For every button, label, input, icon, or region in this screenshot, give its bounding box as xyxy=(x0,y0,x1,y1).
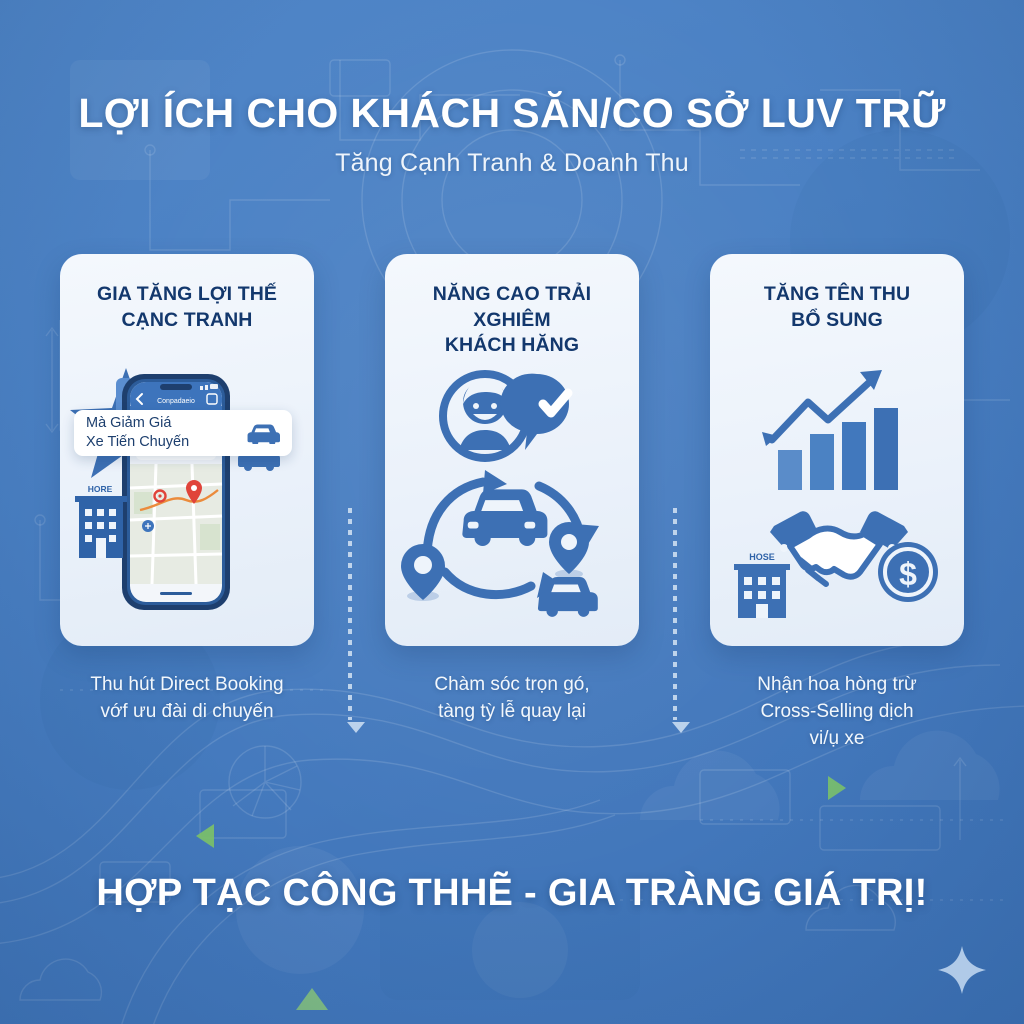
location-pin-icon-right xyxy=(549,522,589,579)
card-title-line2: BỔ SUNG xyxy=(722,308,952,334)
card-illustration-customer-journey xyxy=(385,360,639,638)
card-title: NĂNG CAO TRẢI XGHIÊM KHÁCH HĂNG xyxy=(397,282,627,359)
card-title: TĂNG TÊN THU BỔ SUNG xyxy=(722,282,952,333)
discount-badge-line1: Mà Giảm Giá xyxy=(86,414,246,433)
card-title-line1: NĂNG CAO TRẢI XGHIÊM xyxy=(397,282,627,333)
building-label: HORE xyxy=(88,484,113,494)
card-title: GIA TĂNG LỢI THẾ CẠNC TRANH xyxy=(72,282,302,333)
page-title: LỢI ÍCH CHO KHÁCH SĂN/CO SỞ LUV TRỮ xyxy=(0,92,1024,135)
caption-line2: Cross-Selling dịch xyxy=(710,699,964,726)
caption-card-2: Chàm sóc trọn gó, tàng tỳ lễ quay lại xyxy=(385,672,639,753)
building-label: HOSE xyxy=(749,552,775,562)
caption-line2: tàng tỳ lễ quay lại xyxy=(385,699,639,726)
discount-badge[interactable]: Mà Giảm Giá Xe Tiến Chuyến xyxy=(74,410,292,456)
caption-line1: Nhận hoa hòng trừ xyxy=(710,672,964,699)
discount-badge xyxy=(74,502,292,548)
caption-card-3: Nhận hoa hòng trừ Cross-Selling dịch vi/… xyxy=(710,672,964,753)
car-icon xyxy=(246,422,280,444)
caption-line2: vớf ưu đài di chuyến xyxy=(60,699,314,726)
caption-card-1: Thu hút Direct Booking vớf ưu đài di chu… xyxy=(60,672,314,753)
caption-line3: vi/ụ xe xyxy=(710,726,964,753)
card-customer-experience[interactable]: NĂNG CAO TRẢI XGHIÊM KHÁCH HĂNG xyxy=(385,254,639,646)
card-competitive-advantage[interactable]: GIA TĂNG LỢI THẾ CẠNC TRANH xyxy=(60,254,314,646)
card-title-line2: CẠNC TRANH xyxy=(72,308,302,334)
card-title-line1: TĂNG TÊN THU xyxy=(722,282,952,308)
phone-header-label: Conpadaeio xyxy=(157,398,195,405)
discount-badge-line2: Xe Tiến Chuyến xyxy=(86,433,246,452)
captions-row: Thu hút Direct Booking vớf ưu đài di chu… xyxy=(60,672,964,753)
footer-text: HỢP TẠC CÔNG THHẼ - GIA TRÀNG GIÁ TRỊ! xyxy=(0,872,1024,915)
card-title-line1: GIA TĂNG LỢI THẾ xyxy=(72,282,302,308)
location-pin-icon-left xyxy=(401,544,445,601)
caption-line1: Thu hút Direct Booking xyxy=(60,672,314,699)
car-icon-center xyxy=(462,489,547,546)
card-illustration-growth-handshake: HOSE xyxy=(710,360,964,638)
caption-line1: Chàm sóc trọn gó, xyxy=(385,672,639,699)
hotel-building-icon: HOSE xyxy=(734,552,790,618)
dollar-coin-icon: $ xyxy=(878,542,938,602)
check-bubble-icon xyxy=(501,374,569,450)
card-title-line2: KHÁCH HĂNG xyxy=(397,333,627,359)
card-extra-revenue[interactable]: TĂNG TÊN THU BỔ SUNG xyxy=(710,254,964,646)
card-illustration-phone-map: Conpadaeio xyxy=(60,360,314,638)
coin-symbol: $ xyxy=(899,556,917,592)
sparkle-icon xyxy=(936,944,988,996)
page-subtitle: Tăng Cạnh Tranh & Doanh Thu xyxy=(0,149,1024,178)
footer-banner: HỢP TẠC CÔNG THHẼ - GIA TRÀNG GIÁ TRỊ! xyxy=(0,872,1024,915)
header: LỢI ÍCH CHO KHÁCH SĂN/CO SỞ LUV TRỮ Tăng… xyxy=(0,92,1024,178)
infographic-canvas: LỢI ÍCH CHO KHÁCH SĂN/CO SỞ LUV TRỮ Tăng… xyxy=(0,0,1024,1024)
growth-bar-chart-icon xyxy=(762,370,898,490)
benefit-cards-row: GIA TĂNG LỢI THẾ CẠNC TRANH xyxy=(60,254,964,646)
